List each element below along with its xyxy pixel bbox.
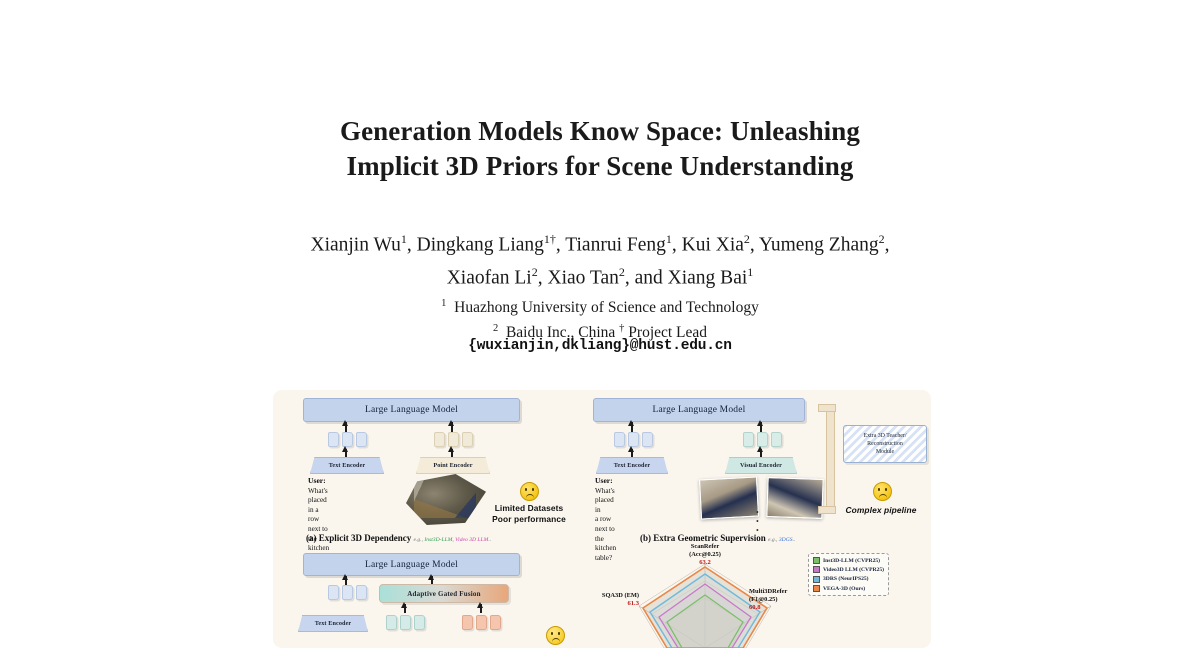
panel-a-point-encoder: Point Encoder	[416, 457, 490, 474]
affiliation-block: 1 Huazhong University of Science and Tec…	[280, 294, 920, 343]
token	[434, 432, 445, 447]
legend-item: 3DRS (NeurIPS25)	[813, 576, 884, 583]
feedback-arrow-top	[818, 404, 836, 412]
up-arrow-icon	[628, 446, 634, 452]
author-line-2: Xiaofan Li2, Xiao Tan2, and Xiang Bai1	[240, 259, 960, 292]
legend-item: VEGA-3D (Ours)	[813, 585, 884, 592]
panel-b-text-tokens	[614, 432, 653, 447]
radar-axis-scanrefer: ScanRefer (Acc@0.25) 63.2	[665, 543, 745, 567]
feedback-arrow-bottom	[818, 506, 836, 514]
token	[757, 432, 768, 447]
token	[342, 432, 353, 447]
page-title: Generation Models Know Space: Unleashing…	[250, 114, 950, 184]
up-arrow-icon	[757, 446, 763, 452]
author-list: Xianjin Wu1, Dingkang Liang1†, Tianrui F…	[240, 226, 960, 291]
panel-b-issue: Complex pipeline	[835, 505, 927, 516]
benchmark-radar-chart: ScanRefer (Acc@0.25) 63.2 Multi3DRefer (…	[595, 550, 815, 648]
token	[342, 585, 353, 600]
panel-a-point-tokens	[434, 432, 473, 447]
legend-swatch-icon	[813, 576, 820, 583]
title-line-1: Generation Models Know Space: Unleashing	[250, 114, 950, 149]
panel-b-llm-block: Large Language Model	[593, 398, 805, 422]
up-arrow-icon	[428, 574, 434, 580]
token	[490, 615, 501, 630]
token	[462, 615, 473, 630]
legend-swatch-icon	[813, 585, 820, 592]
happy-face-icon	[546, 626, 565, 645]
scene-photo	[766, 477, 823, 519]
up-arrow-icon	[448, 420, 454, 426]
scene-photo	[699, 477, 759, 520]
panel-b-caption: (b) Extra Geometric Supervision e.g., 3D…	[640, 533, 795, 543]
legend-item: Video3D LLM (CVPR25)	[813, 566, 884, 573]
point-cloud-scene	[406, 473, 486, 525]
legend-swatch-icon	[813, 557, 820, 564]
token	[386, 615, 397, 630]
token	[476, 615, 487, 630]
paper-preview-page: cs.CV] 19 Mar 2026 Generation Models Kno…	[0, 0, 1200, 648]
feedback-arrow-stem	[826, 404, 835, 514]
up-arrow-icon	[401, 602, 407, 608]
token	[771, 432, 782, 447]
panel-c-visual-tokens	[386, 615, 425, 630]
panel-c-text-encoder: Text Encoder	[298, 615, 368, 632]
up-arrow-icon	[342, 446, 348, 452]
title-line-2: Implicit 3D Priors for Scene Understandi…	[250, 149, 950, 184]
panel-b-text-encoder: Text Encoder	[596, 457, 668, 474]
sad-face-icon	[520, 482, 539, 501]
up-arrow-icon	[757, 420, 763, 426]
up-arrow-icon	[477, 602, 483, 608]
token	[448, 432, 459, 447]
adaptive-gated-fusion-block: Adaptive Gated Fusion	[379, 584, 509, 603]
up-arrow-icon	[342, 420, 348, 426]
up-arrow-icon	[448, 446, 454, 452]
token	[328, 432, 339, 447]
token	[328, 585, 339, 600]
up-arrow-icon	[342, 574, 348, 580]
token	[614, 432, 625, 447]
panel-a-issue: Limited Datasets Poor performance	[483, 503, 575, 524]
panel-a-user-query: User: What's placed in a row next to the…	[308, 476, 329, 563]
legend-item: Inst3D-LLM (CVPR25)	[813, 557, 884, 564]
panel-a-text-tokens	[328, 432, 367, 447]
radar-legend: Inst3D-LLM (CVPR25) Video3D LLM (CVPR25)…	[808, 553, 889, 596]
token	[628, 432, 639, 447]
panel-c-generative-tokens	[462, 615, 501, 630]
token	[400, 615, 411, 630]
token	[356, 585, 367, 600]
token	[642, 432, 653, 447]
affiliation-1: 1 Huazhong University of Science and Tec…	[280, 294, 920, 319]
panel-c-llm-block: Large Language Model	[303, 553, 520, 576]
panel-b-visual-encoder: Visual Encoder	[725, 457, 797, 474]
panel-a-text-encoder: Text Encoder	[310, 457, 384, 474]
panel-c-text-tokens	[328, 585, 367, 600]
token	[462, 432, 473, 447]
author-line-1: Xianjin Wu1, Dingkang Liang1†, Tianrui F…	[240, 226, 960, 259]
token	[414, 615, 425, 630]
radar-axis-sqa3d: SQA3D (EM) 61.3	[573, 592, 639, 608]
panel-b-visual-tokens	[743, 432, 782, 447]
token	[356, 432, 367, 447]
sad-face-icon	[873, 482, 892, 501]
legend-swatch-icon	[813, 566, 820, 573]
panel-a-caption: (a) Explicit 3D Dependency e.g., Inst3D-…	[306, 533, 491, 543]
contact-email: {wuxianjin,dkliang}@hust.edu.cn	[280, 338, 920, 354]
photo-ellipsis: • • •	[756, 508, 760, 535]
up-arrow-icon	[628, 420, 634, 426]
panel-a-llm-block: Large Language Model	[303, 398, 520, 422]
token	[743, 432, 754, 447]
teaser-figure: Large Language Model Text Encoder Point …	[273, 390, 931, 648]
extra-3d-teacher-module: Extra 3D Teacher/ Reconstruction Module	[843, 425, 927, 463]
